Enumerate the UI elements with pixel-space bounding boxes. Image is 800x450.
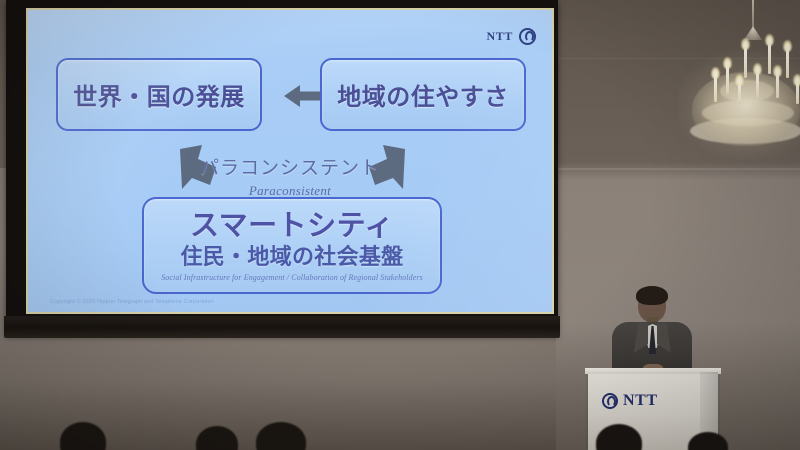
projection-screen-frame: NTT 世界・国の発展 地域の住やすさ (6, 0, 558, 335)
slide-box-regional-livability: 地域の住やすさ (320, 58, 526, 131)
wall-seam (556, 168, 800, 170)
screen-bottom-bar (4, 316, 560, 338)
chandelier-candle (744, 48, 747, 78)
chandelier-candle (756, 72, 759, 98)
conference-hall-scene: NTT 世界・国の発展 地域の住やすさ (0, 0, 800, 450)
slide-box-smart-city: スマートシティ 住民・地域の社会基盤 Social Infrastructure… (142, 197, 442, 294)
presenter-hair (636, 286, 668, 305)
chandelier-flame (765, 34, 774, 46)
ntt-swirl-icon (519, 28, 536, 45)
audience-head (256, 422, 306, 450)
down-left-diagonal-arrow-icon (361, 143, 409, 195)
chandelier-flame (773, 65, 782, 77)
audience-head (196, 426, 238, 450)
chandelier-candle (714, 76, 717, 102)
chandelier-body (692, 72, 800, 146)
chandelier-flame (711, 67, 720, 79)
chandelier-candle (768, 44, 771, 74)
chandelier-flame (741, 38, 750, 50)
chandelier-candle (726, 66, 729, 94)
slide-box-global-development: 世界・国の発展 (56, 58, 262, 131)
chandelier-flame (723, 57, 732, 69)
slide-ntt-logo-text: NTT (487, 29, 513, 44)
slide-box-regional-livability-label: 地域の住やすさ (337, 77, 509, 112)
slide-box-global-development-label: 世界・国の発展 (73, 77, 245, 112)
paraconsistent-label-group: パラコンシステント Paraconsistent (28, 153, 552, 199)
chandelier-rod (752, 0, 754, 30)
chandelier-flame (783, 40, 792, 52)
audience-head (596, 424, 642, 450)
chandelier-candle (776, 74, 779, 98)
slide-copyright: Copyright © 2020 Nippon Telegraph and Te… (50, 299, 214, 305)
smart-city-english-caption: Social Infrastructure for Engagement / C… (161, 274, 423, 282)
crystal-chandelier (668, 0, 800, 150)
chandelier-flame (753, 63, 762, 75)
presentation-slide: NTT 世界・国の発展 地域の住やすさ (28, 10, 552, 312)
smart-city-text-stack: スマートシティ 住民・地域の社会基盤 Social Infrastructure… (161, 209, 423, 282)
audience-silhouettes (0, 394, 800, 450)
audience-head (60, 422, 106, 450)
chandelier-flame (735, 74, 744, 86)
chandelier-flame (793, 74, 800, 86)
chandelier-candle (786, 50, 789, 78)
paraconsistent-japanese-label: パラコンシステント (28, 153, 552, 180)
slide-ntt-logo: NTT (487, 28, 536, 45)
audience-head (688, 432, 728, 450)
smart-city-subtitle: 住民・地域の社会基盤 (161, 247, 423, 269)
smart-city-title: スマートシティ (161, 211, 423, 240)
down-right-diagonal-arrow-icon (176, 143, 224, 195)
